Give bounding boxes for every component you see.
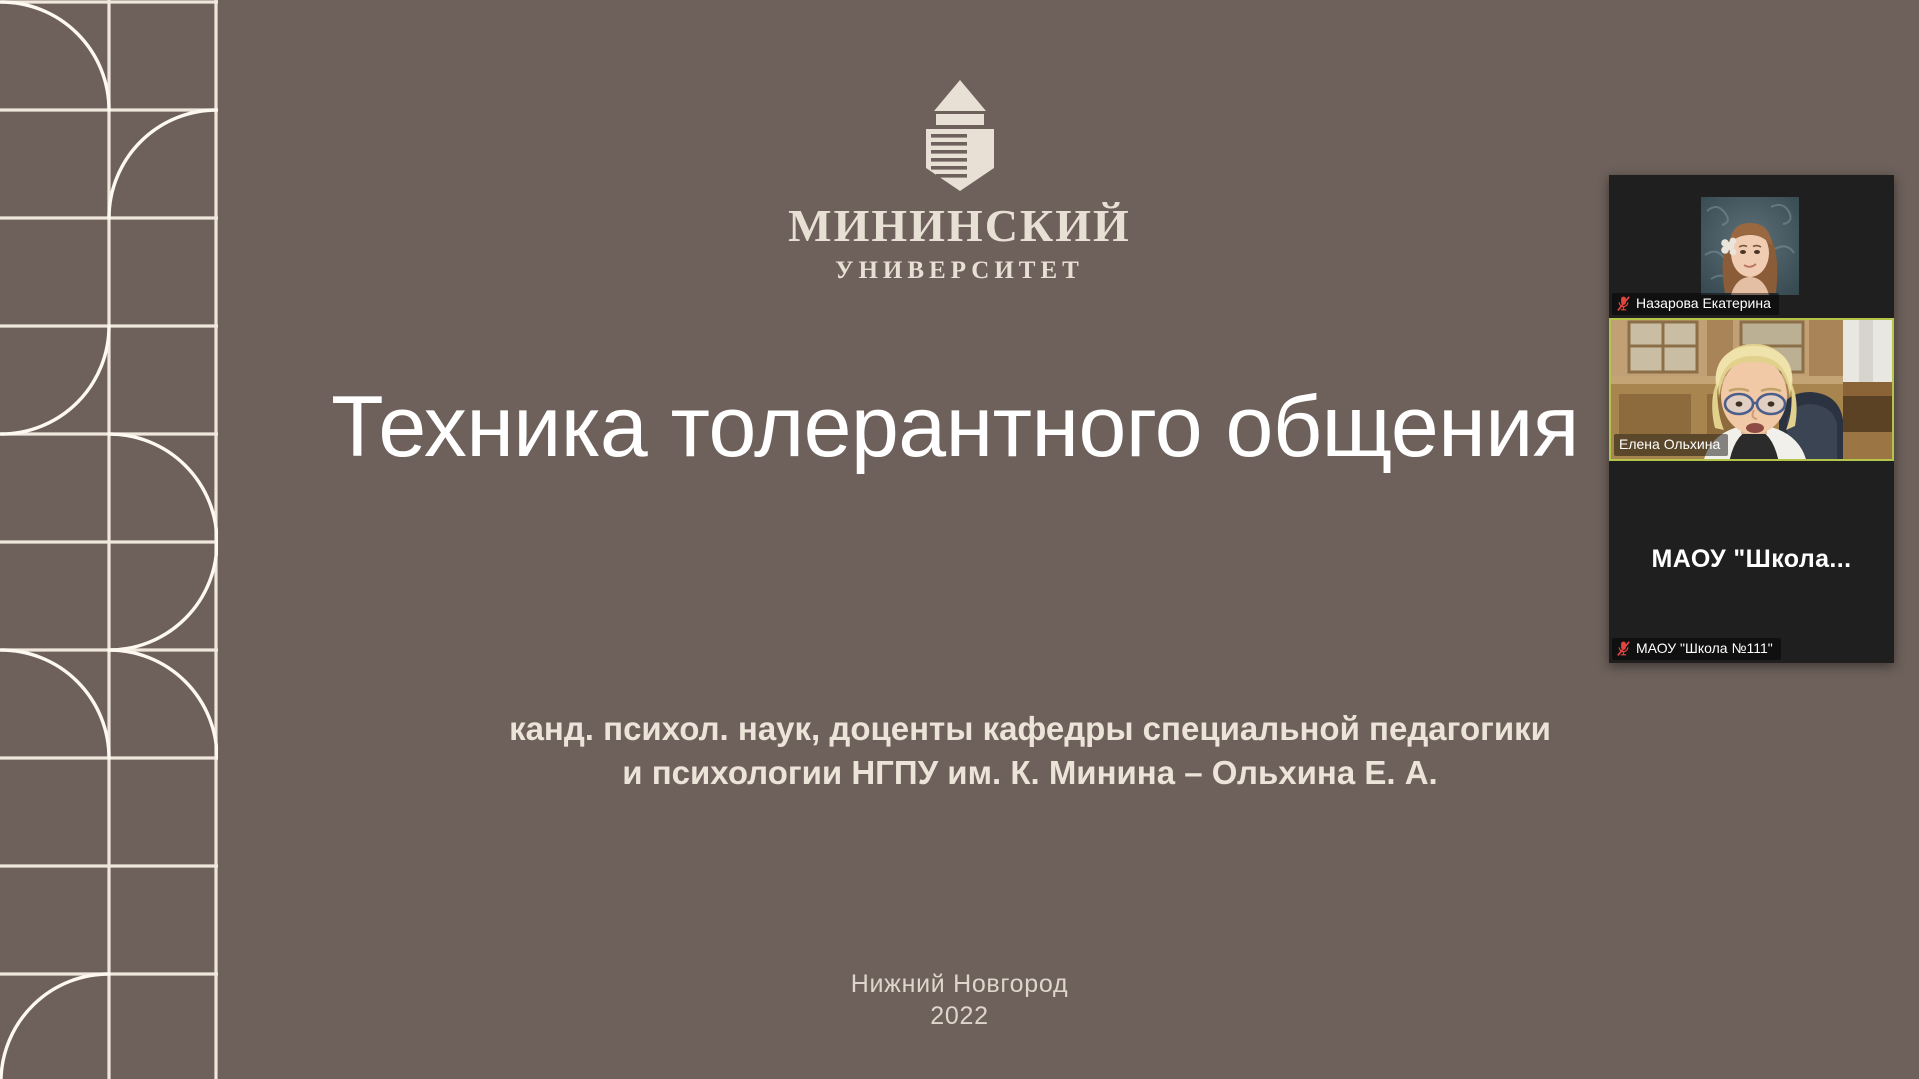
participant-name: Назарова Екатерина — [1636, 295, 1771, 312]
logo-name-line1: МИНИНСКИЙ — [788, 203, 1131, 249]
microphone-muted-icon — [1617, 641, 1630, 656]
subtitle-line-2: и психологии НГПУ им. К. Минина – Ольхин… — [280, 751, 1780, 795]
mininsky-shield-tower-logo-icon — [900, 78, 1020, 193]
participant-display-name: МАОУ "Школа... — [1609, 545, 1894, 574]
footer: Нижний Новгород 2022 — [0, 968, 1919, 1032]
participant-tile[interactable]: Елена Ольхина — [1609, 318, 1894, 461]
page-title: Техника толерантного общения — [310, 378, 1600, 478]
participant-tile[interactable]: Назарова Екатерина — [1609, 175, 1894, 318]
footer-city: Нижний Новгород — [0, 968, 1919, 1000]
participant-tile[interactable]: МАОУ "Школа... МАОУ "Школа №111" — [1609, 461, 1894, 663]
participant-nameplate: МАОУ "Школа №111" — [1612, 638, 1781, 660]
subtitle-line-1: канд. психол. наук, доценты кафедры спец… — [280, 707, 1780, 751]
video-conference-panel[interactable]: Назарова Екатерина — [1609, 175, 1894, 663]
participant-nameplate: Елена Ольхина — [1614, 434, 1728, 456]
avatar — [1701, 197, 1799, 295]
microphone-muted-icon — [1617, 296, 1630, 311]
footer-year: 2022 — [0, 1000, 1919, 1032]
participant-nameplate: Назарова Екатерина — [1612, 293, 1779, 315]
presentation-slide: МИНИНСКИЙ УНИВЕРСИТЕТ Техника толерантно… — [0, 0, 1919, 1079]
subtitle: канд. психол. наук, доценты кафедры спец… — [280, 707, 1780, 794]
participant-name: МАОУ "Школа №111" — [1636, 640, 1773, 657]
logo-name-line2: УНИВЕРСИТЕТ — [835, 258, 1084, 283]
participant-name: Елена Ольхина — [1619, 436, 1720, 453]
